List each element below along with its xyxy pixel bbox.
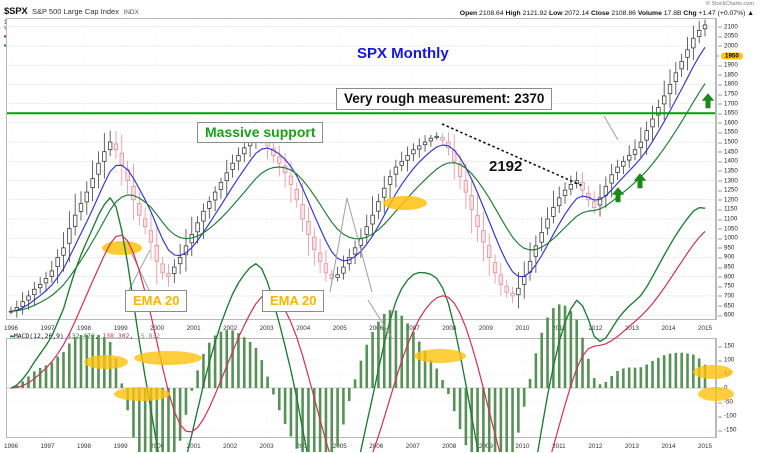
price-axis: 2100205020001950190018501800175017001650… <box>716 18 760 320</box>
x-tick-2012: 2012 <box>588 325 602 332</box>
macd-histogram-value: -5.832 <box>137 332 160 340</box>
open-label: Open <box>460 10 477 17</box>
low-value: 2072.14 <box>564 10 589 17</box>
x-tick-1997: 1997 <box>41 443 55 450</box>
x-tick-2008: 2008 <box>442 325 456 332</box>
symbol-ticker: $SPX <box>4 6 28 17</box>
price-tick-1650: 1650 <box>724 110 738 117</box>
x-tick-2001: 2001 <box>187 325 201 332</box>
price-tick-2100: 2100 <box>724 23 738 30</box>
x-tick-2005: 2005 <box>333 325 347 332</box>
price-tick-1350: 1350 <box>724 167 738 174</box>
x-tick-2004: 2004 <box>296 443 310 450</box>
x-tick-2003: 2003 <box>260 443 274 450</box>
x-tick-2013: 2013 <box>625 325 639 332</box>
price-tick-2050: 2050 <box>724 33 738 40</box>
x-tick-2010: 2010 <box>515 325 529 332</box>
x-tick-2009: 2009 <box>479 325 493 332</box>
x-tick-2015: 2015 <box>698 443 712 450</box>
price-tick-1750: 1750 <box>724 91 738 98</box>
support-callout: Massive support <box>197 122 323 143</box>
price-tick-750: 750 <box>724 283 734 290</box>
price-tick-1700: 1700 <box>724 100 738 107</box>
macd-tick--150: -150 <box>724 427 736 434</box>
price-tick-1400: 1400 <box>724 158 738 165</box>
x-tick-2014: 2014 <box>661 325 675 332</box>
x-tick-2011: 2011 <box>552 443 566 450</box>
low-label: Low <box>549 10 563 17</box>
x-tick-2006: 2006 <box>369 443 383 450</box>
x-tick-2002: 2002 <box>223 325 237 332</box>
macd-tick--50: -50 <box>724 399 733 406</box>
high-label: High <box>506 10 521 17</box>
price-tick-1850: 1850 <box>724 71 738 78</box>
macd-value: 132.470 <box>68 332 95 340</box>
price-tick-1050: 1050 <box>724 225 738 232</box>
x-tick-2014: 2014 <box>661 443 675 450</box>
volume-value: 17.8B <box>664 10 682 17</box>
x-tick-2011: 2011 <box>552 325 566 332</box>
change-value: +1.47 (+0.07%) <box>699 10 746 17</box>
x-tick-2005: 2005 <box>333 443 347 450</box>
chart-title-annotation: SPX Monthly <box>357 45 449 62</box>
x-tick-2002: 2002 <box>223 443 237 450</box>
x-tick-2003: 2003 <box>260 325 274 332</box>
change-up-arrow-icon: ▲ <box>747 10 754 17</box>
macd-tick-100: 100 <box>724 357 734 364</box>
x-tick-2000: 2000 <box>150 443 164 450</box>
macd-signal-value: 138.302 <box>102 332 129 340</box>
x-tick-2008: 2008 <box>442 443 456 450</box>
x-tick-1997: 1997 <box>41 325 55 332</box>
x-tick-2007: 2007 <box>406 325 420 332</box>
price-tick-650: 650 <box>724 302 734 309</box>
stockcharts-screenshot: $SPX S&P 500 Large Cap Index INDX 11-Jun… <box>0 0 760 452</box>
price-tick-1150: 1150 <box>724 206 737 213</box>
price-tick-1900: 1900 <box>724 62 738 69</box>
x-tick-2007: 2007 <box>406 443 420 450</box>
ema20-callout-1: EMA 20 <box>125 290 187 312</box>
x-tick-2001: 2001 <box>187 443 201 450</box>
price-tick-950: 950 <box>724 244 734 251</box>
macd-tick-150: 150 <box>724 343 734 350</box>
macd-legend-name: MACD(12,26,9) <box>14 332 64 340</box>
x-tick-2010: 2010 <box>515 443 529 450</box>
price-tick-850: 850 <box>724 264 734 271</box>
price-tick-1950: 1950 <box>721 52 743 59</box>
price-tick-1500: 1500 <box>724 139 738 146</box>
price-tick-1250: 1250 <box>724 187 738 194</box>
price-tick-1800: 1800 <box>724 81 738 88</box>
x-tick-2004: 2004 <box>296 325 310 332</box>
price-tick-700: 700 <box>724 292 734 299</box>
symbol-description: S&P 500 Large Cap Index <box>32 7 119 16</box>
macd-tick--100: -100 <box>724 413 736 420</box>
change-label: Chg <box>683 10 696 17</box>
price-tick-1300: 1300 <box>724 177 738 184</box>
high-value: 2121.92 <box>523 10 548 17</box>
price-tick-1600: 1600 <box>724 119 738 126</box>
macd-tick-50: 50 <box>724 371 731 378</box>
x-tick-1996: 1996 <box>4 443 18 450</box>
x-tick-1998: 1998 <box>77 325 91 332</box>
x-tick-1999: 1999 <box>114 325 128 332</box>
close-label: Close <box>591 10 610 17</box>
x-tick-2012: 2012 <box>588 443 602 450</box>
price-tick-600: 600 <box>724 312 734 319</box>
quote-bar: Open 2108.64 High 2121.92 Low 2072.14 Cl… <box>460 10 754 17</box>
target-low-label: 2192 <box>489 158 522 175</box>
x-tick-1998: 1998 <box>77 443 91 450</box>
price-tick-1200: 1200 <box>724 196 738 203</box>
x-tick-2006: 2006 <box>369 325 383 332</box>
x-tick-1999: 1999 <box>114 443 128 450</box>
x-tick-2015: 2015 <box>698 325 712 332</box>
price-tick-1000: 1000 <box>724 235 738 242</box>
volume-label: Volume <box>638 10 662 17</box>
close-value: 2108.86 <box>611 10 636 17</box>
macd-legend: ▬MACD(12,26,9) 132.470, 138.302, -5.832 <box>10 332 160 340</box>
macd-axis: 150100500-50-100-150 <box>716 338 760 438</box>
open-value: 2108.64 <box>479 10 504 17</box>
price-tick-1450: 1450 <box>724 148 738 155</box>
x-tick-1996: 1996 <box>4 325 18 332</box>
price-tick-1100: 1100 <box>724 216 737 223</box>
price-tick-800: 800 <box>724 273 734 280</box>
x-tick-2013: 2013 <box>625 443 639 450</box>
x-tick-2000: 2000 <box>150 325 164 332</box>
measurement-callout: Very rough measurement: 2370 <box>336 88 552 110</box>
price-tick-1550: 1550 <box>724 129 738 136</box>
price-chart-panel[interactable] <box>6 18 716 320</box>
ema20-callout-2: EMA 20 <box>262 290 324 312</box>
x-tick-2009: 2009 <box>479 443 493 450</box>
macd-chart-panel[interactable] <box>6 338 716 438</box>
price-tick-900: 900 <box>724 254 734 261</box>
stockcharts-brand: © StockCharts.com <box>706 1 754 7</box>
exchange-label: INDX <box>123 9 139 16</box>
macd-x-axis: 1996199719981999200020012002200320042005… <box>6 439 716 453</box>
price-tick-2000: 2000 <box>724 42 738 49</box>
macd-tick-0: 0 <box>724 385 727 392</box>
